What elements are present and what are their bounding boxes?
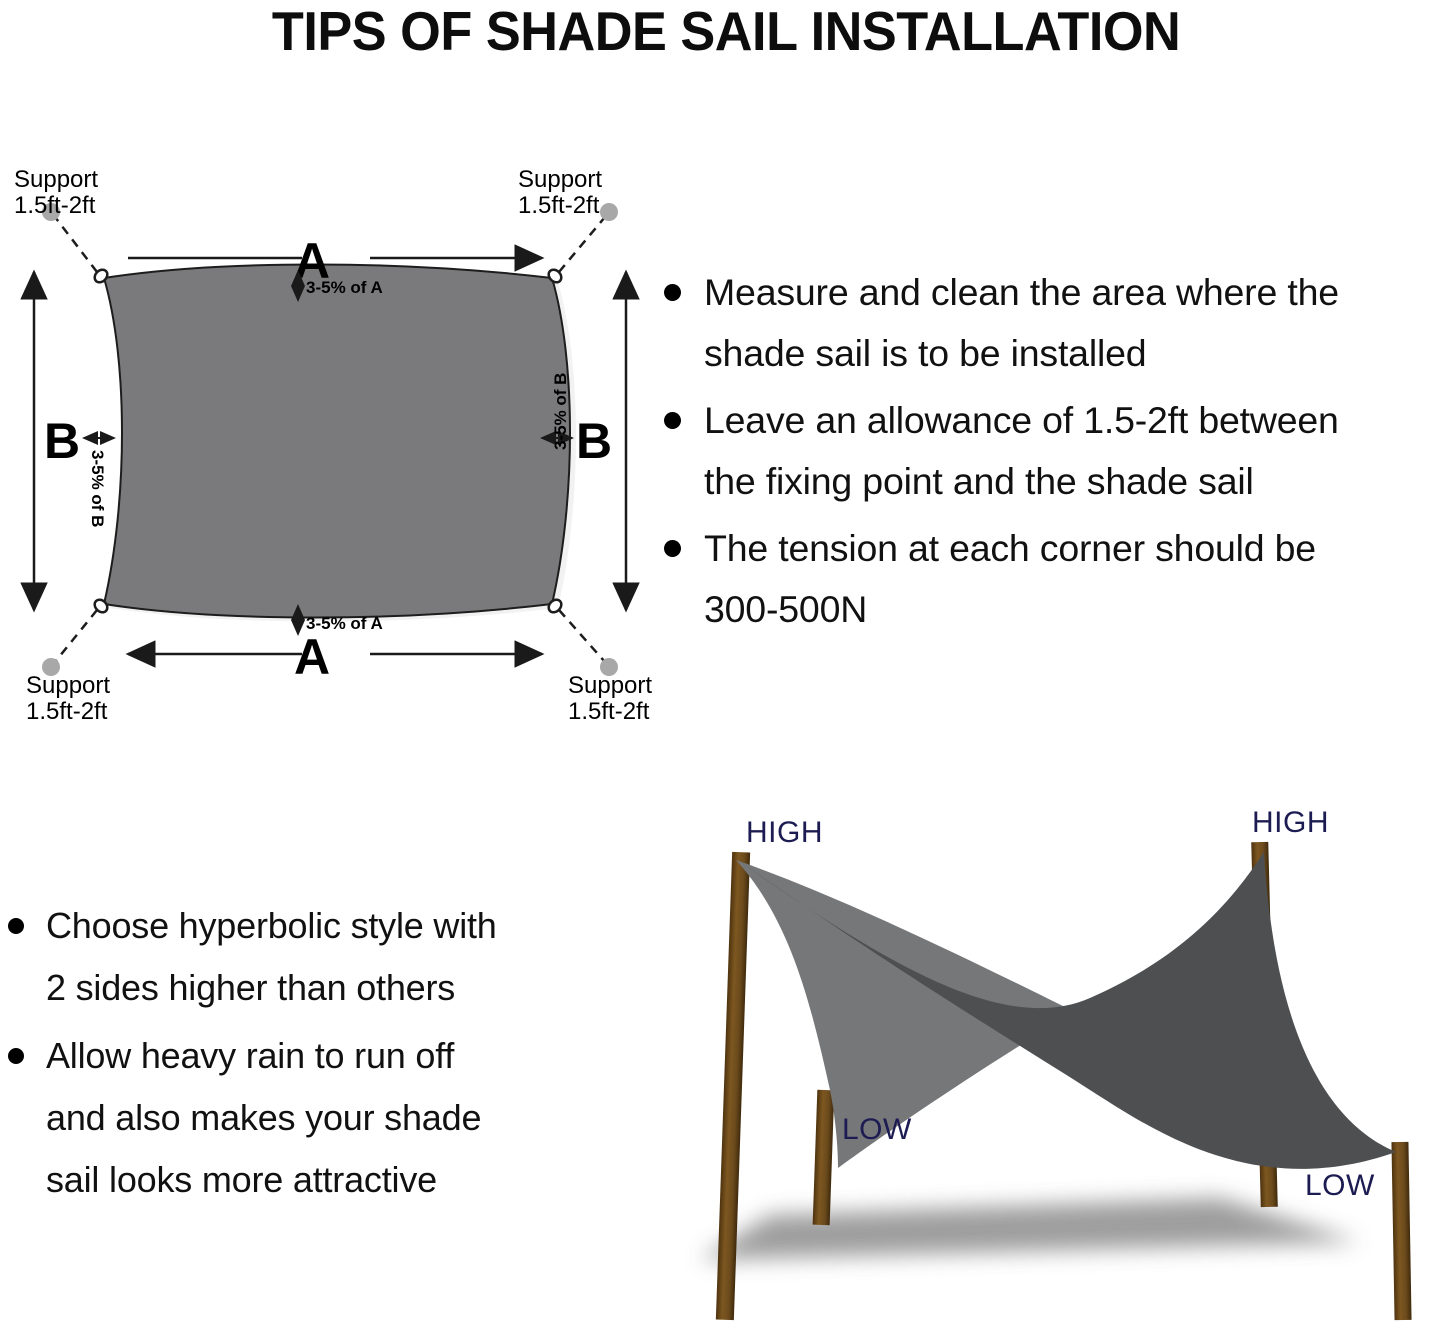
support-label-value: 1.5ft-2ft bbox=[518, 192, 600, 219]
dimension-b-left-label: B bbox=[44, 413, 80, 469]
hyperbolic-style-list: Choose hyperbolic style with 2 sides hig… bbox=[0, 895, 620, 1235]
label-high-left: HIGH bbox=[746, 816, 823, 849]
dimension-b-right-label: B bbox=[576, 413, 612, 469]
style-line: Allow heavy rain to run off bbox=[46, 1025, 620, 1087]
list-item: The tension at each corner should be 300… bbox=[648, 518, 1452, 640]
bullet-dot-icon bbox=[8, 918, 24, 934]
rect-sail-svg: Support 1.5ft-2ft Support 1.5ft-2ft Supp… bbox=[0, 160, 660, 740]
post-low-left bbox=[813, 1090, 835, 1226]
list-item: Allow heavy rain to run off and also mak… bbox=[0, 1025, 620, 1211]
support-label-top-right: Support 1.5ft-2ft bbox=[518, 166, 602, 219]
support-label-value: 1.5ft-2ft bbox=[26, 698, 108, 725]
tip-line: shade sail is to be installed bbox=[704, 323, 1452, 384]
label-low-left: LOW bbox=[842, 1113, 912, 1146]
installation-tips-list: Measure and clean the area where the sha… bbox=[648, 262, 1452, 682]
style-line: and also makes your shade bbox=[46, 1087, 620, 1149]
tips-bullet-list: Measure and clean the area where the sha… bbox=[648, 262, 1452, 640]
sag-label-right: 3-5% of B bbox=[551, 373, 570, 450]
bullet-dot-icon bbox=[8, 1048, 24, 1064]
sag-label-top: 3-5% of A bbox=[306, 278, 383, 297]
bullet-dot-icon bbox=[664, 284, 681, 301]
hyperbolic-sail-svg: HIGH HIGH LOW LOW bbox=[660, 790, 1452, 1325]
tip-line: The tension at each corner should be bbox=[704, 518, 1452, 579]
sag-label-bottom: 3-5% of A bbox=[306, 614, 383, 633]
style-bullet-list: Choose hyperbolic style with 2 sides hig… bbox=[0, 895, 620, 1211]
sail-shape bbox=[104, 265, 576, 622]
label-high-right: HIGH bbox=[1252, 806, 1329, 839]
tip-line: 300-500N bbox=[704, 579, 1452, 640]
bullet-dot-icon bbox=[664, 412, 681, 429]
dimension-a-bottom-label: A bbox=[294, 629, 330, 685]
list-item: Choose hyperbolic style with 2 sides hig… bbox=[0, 895, 620, 1019]
support-label-text: Support bbox=[26, 672, 110, 699]
rectangular-sail-diagram: Support 1.5ft-2ft Support 1.5ft-2ft Supp… bbox=[0, 160, 660, 740]
list-item: Leave an allowance of 1.5-2ft between th… bbox=[648, 390, 1452, 512]
style-line: 2 sides higher than others bbox=[46, 957, 620, 1019]
ground-shadow bbox=[700, 1198, 1360, 1260]
support-label-value: 1.5ft-2ft bbox=[568, 698, 650, 725]
support-label-text: Support bbox=[568, 672, 652, 699]
sag-label-left: 3-5% of B bbox=[88, 450, 107, 527]
post-low-right bbox=[1391, 1142, 1411, 1320]
label-low-right: LOW bbox=[1305, 1169, 1375, 1202]
support-label-bottom-left: Support 1.5ft-2ft bbox=[26, 672, 110, 725]
support-label-bottom-right: Support 1.5ft-2ft bbox=[568, 672, 652, 725]
list-item: Measure and clean the area where the sha… bbox=[648, 262, 1452, 384]
tip-line: Leave an allowance of 1.5-2ft between bbox=[704, 390, 1452, 451]
support-label-text: Support bbox=[518, 166, 602, 193]
support-label-top-left: Support 1.5ft-2ft bbox=[14, 166, 98, 219]
tip-line: Measure and clean the area where the bbox=[704, 262, 1452, 323]
hyperbolic-sail-illustration: HIGH HIGH LOW LOW bbox=[660, 790, 1452, 1325]
support-label-text: Support bbox=[14, 166, 98, 193]
bullet-dot-icon bbox=[664, 540, 681, 557]
style-line: Choose hyperbolic style with bbox=[46, 895, 620, 957]
tip-line: the fixing point and the shade sail bbox=[704, 451, 1452, 512]
title-bar: TIPS OF SHADE SAIL INSTALLATION bbox=[0, 0, 1452, 62]
support-label-value: 1.5ft-2ft bbox=[14, 192, 96, 219]
style-line: sail looks more attractive bbox=[46, 1149, 620, 1211]
page-title: TIPS OF SHADE SAIL INSTALLATION bbox=[272, 4, 1180, 59]
